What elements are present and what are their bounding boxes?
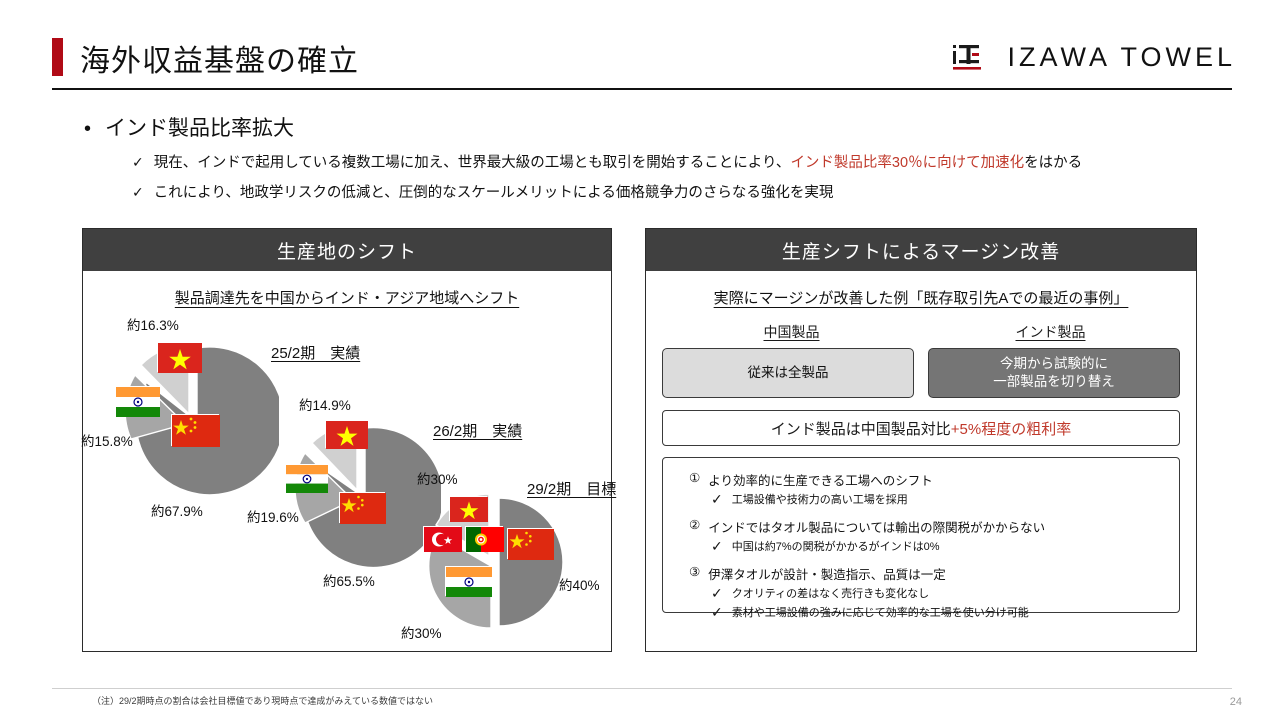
check-icon: ✓ — [132, 184, 144, 201]
list-item-text: より効率的に生産できる工場へのシフト — [708, 470, 933, 489]
label-india-products: インド製品 — [921, 322, 1180, 342]
pie-chart-fy25: 約16.3% 約15.8% 約67.9% 25/2期 実績 — [109, 336, 279, 511]
panel-margin-improvement: 生産シフトによるマージン改善 実際にマージンが改善した例「既存取引先Aでの最近の… — [645, 228, 1197, 652]
list-item-sub-text: 中国は約7%の関税がかかるがインドは0% — [732, 538, 940, 555]
bullet-sub-1-highlight: インド製品比率30％に向けて加速化 — [790, 155, 1024, 171]
pie-fy25-title: 25/2期 実績 — [271, 342, 360, 363]
bullet-sub-1-post: をはかる — [1024, 155, 1082, 171]
bullet-sub-1: ✓ 現在、インドで起用している複数工場に加え、世界最大級の工場とも取引を開始する… — [132, 151, 1082, 172]
flag-portugal-icon — [465, 526, 503, 551]
bullet-dot-icon: • — [84, 119, 91, 139]
pie-fy25-label-china: 約67.9% — [151, 500, 203, 520]
bullet-sub-2: ✓ これにより、地政学リスクの低減と、圧倒的なスケールメリットによる価格競争力の… — [132, 181, 1082, 202]
list-item-number: ③ — [689, 564, 700, 583]
flag-vietnam-icon — [157, 342, 201, 372]
pie-fy26-label-china: 約65.5% — [323, 570, 375, 590]
box-china-products: 従来は全製品 — [662, 348, 914, 398]
list-item: ① より効率的に生産できる工場へのシフト ✓ 工場設備や技術力の高い工場を採用 — [689, 470, 1179, 508]
page-number: 24 — [1230, 696, 1242, 708]
check-icon: ✓ — [711, 538, 723, 555]
check-icon: ✓ — [132, 154, 144, 171]
label-china-products: 中国製品 — [662, 322, 921, 342]
flag-china-icon — [507, 528, 553, 559]
flag-vietnam-icon — [449, 496, 487, 521]
flag-india-icon — [285, 464, 327, 492]
bullet-sub-1-pre: 現在、インドで起用している複数工場に加え、世界最大級の工場とも取引を開始すること… — [154, 155, 791, 171]
brand-logo: IZAWA TOWEL — [951, 38, 1236, 76]
list-item-text: インドではタオル製品については輸出の際関税がかからない — [708, 517, 1045, 536]
panel-right-subheading: 実際にマージンが改善した例「既存取引先Aでの最近の事例」 — [646, 287, 1196, 308]
page-title: 海外収益基盤の確立 — [80, 36, 359, 80]
reasons-list-box: ① より効率的に生産できる工場へのシフト ✓ 工場設備や技術力の高い工場を採用 … — [662, 457, 1180, 613]
pie-fy29-title: 29/2期 目標 — [527, 478, 616, 499]
margin-statement-pre: インド製品は中国製品対比 — [771, 421, 951, 438]
izawa-monogram-icon — [951, 38, 989, 76]
margin-statement-highlight: +5%程度の粗利率 — [951, 421, 1071, 438]
check-icon: ✓ — [711, 604, 723, 621]
title-accent-bar — [52, 38, 63, 76]
pie-fy26-label-vietnam: 約14.9% — [299, 394, 351, 414]
bullet-main: • インド製品比率拡大 — [84, 112, 1082, 142]
header-divider — [52, 88, 1232, 90]
flag-india-icon — [445, 566, 491, 596]
product-origin-boxes: 従来は全製品 今期から試験的に 一部製品を切り替え — [646, 342, 1196, 398]
list-item-number: ② — [689, 517, 700, 536]
pie-chart-group: 約16.3% 約15.8% 約67.9% 25/2期 実績 約14.9% 約19… — [83, 308, 611, 648]
list-item-sub-text: 工場設備や技術力の高い工場を採用 — [732, 491, 908, 508]
list-item-sub-text: クオリティの差はなく売行きも変化なし — [732, 585, 929, 602]
pie-fy25-label-vietnam: 約16.3% — [127, 314, 179, 334]
box-india-line-1: 今期から試験的に — [1000, 356, 1108, 371]
box-india-line-2: 一部製品を切り替え — [993, 374, 1115, 389]
flag-turkey-icon — [423, 526, 461, 551]
panel-production-shift: 生産地のシフト 製品調達先を中国からインド・アジア地域へシフト 約 — [82, 228, 612, 652]
check-icon: ✓ — [711, 491, 723, 508]
panel-left-heading: 生産地のシフト — [83, 229, 611, 271]
list-item: ② インドではタオル製品については輸出の際関税がかからない ✓ 中国は約7%の関… — [689, 517, 1179, 555]
check-icon: ✓ — [711, 585, 723, 602]
panel-left-subheading: 製品調達先を中国からインド・アジア地域へシフト — [83, 287, 611, 308]
flag-vietnam-icon — [325, 420, 367, 448]
bullet-main-label: インド製品比率拡大 — [105, 112, 294, 142]
pie-fy26-label-india: 約19.6% — [247, 506, 299, 526]
logo-wordmark: IZAWA TOWEL — [1007, 42, 1236, 73]
pie-fy29-label-china: 約40% — [559, 574, 600, 594]
list-item-sub-text: 素材や工場設備の強みに応じて効率的な工場を使い分け可能 — [732, 604, 1029, 621]
pie-fy29-label-others: 約30% — [417, 468, 458, 488]
footer-divider — [52, 688, 1232, 689]
flag-china-icon — [171, 414, 219, 446]
pie-chart-fy29: 約30% 約30% 約40% 29/2期 目標 — [419, 486, 569, 641]
footnote: （注）29/2期時点の割合は会社目標値であり現時点で達成がみえている数値ではない — [92, 694, 433, 707]
pie-fy25-label-india: 約15.8% — [81, 430, 133, 450]
margin-statement-box: インド製品は中国製品対比+5%程度の粗利率 — [662, 410, 1180, 446]
flag-india-icon — [115, 386, 159, 416]
flag-china-icon — [339, 492, 385, 523]
pie-chart-fy26: 約14.9% 約19.6% 約65.5% 26/2期 実績 — [281, 416, 441, 581]
product-origin-labels: 中国製品 インド製品 — [646, 322, 1196, 342]
box-india-products: 今期から試験的に 一部製品を切り替え — [928, 348, 1180, 398]
pie-fy26-title: 26/2期 実績 — [433, 420, 522, 441]
pie-fy29-label-india: 約30% — [401, 622, 442, 642]
bullet-list: • インド製品比率拡大 ✓ 現在、インドで起用している複数工場に加え、世界最大級… — [84, 112, 1082, 202]
slide-header: 海外収益基盤の確立 IZAWA TOWEL — [0, 0, 1280, 96]
panel-right-heading: 生産シフトによるマージン改善 — [646, 229, 1196, 271]
bullet-sub-2-label: これにより、地政学リスクの低減と、圧倒的なスケールメリットによる価格競争力のさら… — [154, 181, 834, 202]
list-item-text: 伊澤タオルが設計・製造指示、品質は一定 — [708, 564, 946, 583]
list-item-number: ① — [689, 470, 700, 489]
list-item: ③ 伊澤タオルが設計・製造指示、品質は一定 ✓ クオリティの差はなく売行きも変化… — [689, 564, 1179, 621]
